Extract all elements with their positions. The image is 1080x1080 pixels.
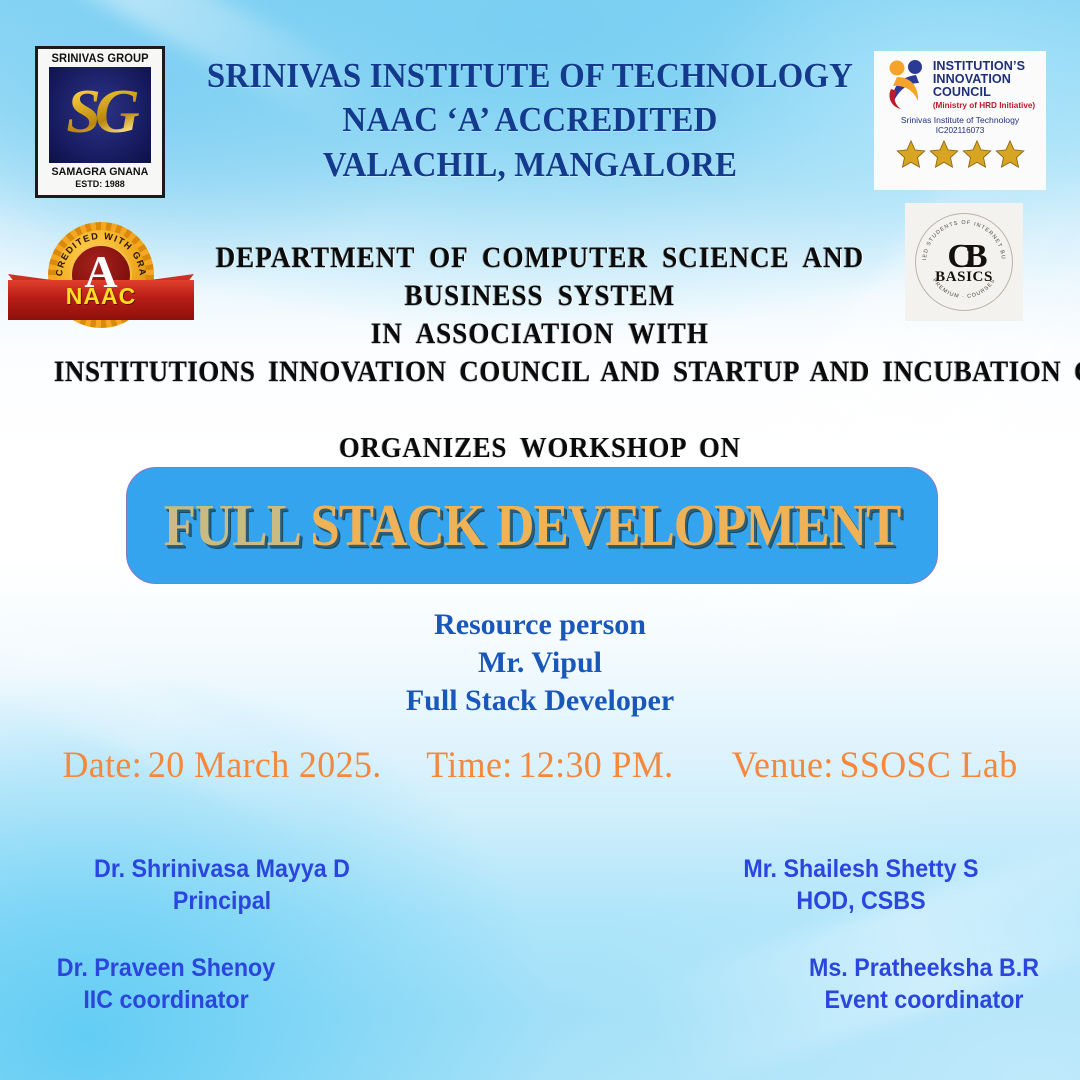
logo-top-text: SRINIVAS GROUP	[51, 53, 148, 65]
organizes-label: ORGANIZES WORKSHOP ON	[43, 432, 1037, 465]
logo-monogram: SG	[49, 67, 151, 163]
star-icon	[929, 139, 959, 169]
iic-people-icon	[885, 59, 929, 111]
logo-monogram-box: SG	[49, 67, 151, 163]
iic-line-2: INNOVATION	[933, 73, 1035, 86]
institute-title-line-1: SRINIVAS INSTITUTE OF TECHNOLOGY	[173, 54, 887, 98]
signatory-principal-role: Principal	[88, 885, 356, 917]
signatory-hod-role: HOD, CSBS	[732, 885, 991, 917]
institute-title-line-2: NAAC ‘A’ ACCREDITED	[173, 98, 887, 142]
iic-line-1: INSTITUTION’S	[933, 60, 1035, 73]
event-date-value: 20 March 2025.	[148, 745, 382, 786]
workshop-poster: SRINIVAS GROUP SG SAMAGRA GNANA ESTD: 19…	[0, 0, 1080, 1080]
event-details-row: Date:20 March 2025. Time:12:30 PM. Venue…	[16, 744, 1064, 787]
signatory-principal: Dr. Shrinivasa Mayya D Principal	[88, 853, 356, 917]
logo-established: ESTD: 1988	[75, 179, 125, 189]
srinivas-group-logo: SRINIVAS GROUP SG SAMAGRA GNANA ESTD: 19…	[35, 46, 165, 198]
signatory-iic-role: IIC coordinator	[49, 984, 283, 1016]
signatory-hod: Mr. Shailesh Shetty S HOD, CSBS	[732, 853, 991, 917]
signatory-iic-coordinator: Dr. Praveen Shenoy IIC coordinator	[49, 952, 283, 1016]
signatory-hod-name: Mr. Shailesh Shetty S	[732, 853, 991, 885]
signatory-event-name: Ms. Pratheeksha B.R	[799, 952, 1048, 984]
resource-person-designation: Full Stack Developer	[0, 682, 1080, 720]
resource-person-heading: Resource person	[0, 606, 1080, 644]
workshop-title-part-2: STACK DEVELOPMENT	[310, 493, 900, 558]
iic-code: IC202116073	[936, 126, 985, 135]
institute-title-line-3: VALACHIL, MANGALORE	[173, 143, 887, 187]
iic-line-3: COUNCIL	[933, 86, 1035, 99]
workshop-title-part-1: FULL	[164, 493, 311, 558]
event-time-value: 12:30 PM.	[518, 745, 673, 786]
iic-logo: INSTITUTION’S INNOVATION COUNCIL (Minist…	[874, 51, 1046, 190]
event-date: Date:20 March 2025.	[62, 744, 381, 787]
iic-logo-header: INSTITUTION’S INNOVATION COUNCIL (Minist…	[885, 51, 1035, 111]
star-icon	[896, 139, 926, 169]
star-icon	[962, 139, 992, 169]
badge-ribbon-label: NAAC	[8, 283, 194, 310]
workshop-title: FULL STACK DEVELOPMENT	[164, 492, 901, 559]
resource-person-block: Resource person Mr. Vipul Full Stack Dev…	[0, 606, 1080, 719]
signatory-event-role: Event coordinator	[799, 984, 1048, 1016]
star-icon	[995, 139, 1025, 169]
department-line-4: INSTITUTIONS INNOVATION COUNCIL AND STAR…	[54, 357, 1026, 387]
event-time-label: Time:	[426, 745, 512, 786]
event-venue-label: Venue:	[732, 745, 834, 786]
workshop-title-banner: FULL STACK DEVELOPMENT	[126, 467, 938, 584]
event-venue-value: SSOSC Lab	[840, 745, 1018, 786]
event-time: Time:12:30 PM.	[426, 744, 673, 787]
iic-star-rating	[896, 139, 1025, 169]
logo-motto: SAMAGRA GNANA	[52, 166, 149, 178]
event-venue: Venue:SSOSC Lab	[732, 744, 1018, 787]
department-line-3: IN ASSOCIATION WITH	[54, 319, 1026, 349]
signatory-event-coordinator: Ms. Pratheeksha B.R Event coordinator	[799, 952, 1048, 1016]
iic-institute-name: Srinivas Institute of Technology	[901, 115, 1019, 126]
department-line-1: DEPARTMENT OF COMPUTER SCIENCE AND	[54, 243, 1026, 273]
event-date-label: Date:	[62, 745, 142, 786]
signatory-iic-name: Dr. Praveen Shenoy	[49, 952, 283, 984]
iic-ministry-note: (Ministry of HRD Initiative)	[933, 102, 1035, 111]
signatory-principal-name: Dr. Shrinivasa Mayya D	[88, 853, 356, 885]
resource-person-name: Mr. Vipul	[0, 644, 1080, 682]
department-line-2: BUSINESS SYSTEM	[54, 281, 1026, 311]
institute-title: SRINIVAS INSTITUTE OF TECHNOLOGY NAAC ‘A…	[173, 54, 887, 187]
iic-logo-wordmark: INSTITUTION’S INNOVATION COUNCIL (Minist…	[933, 60, 1035, 111]
